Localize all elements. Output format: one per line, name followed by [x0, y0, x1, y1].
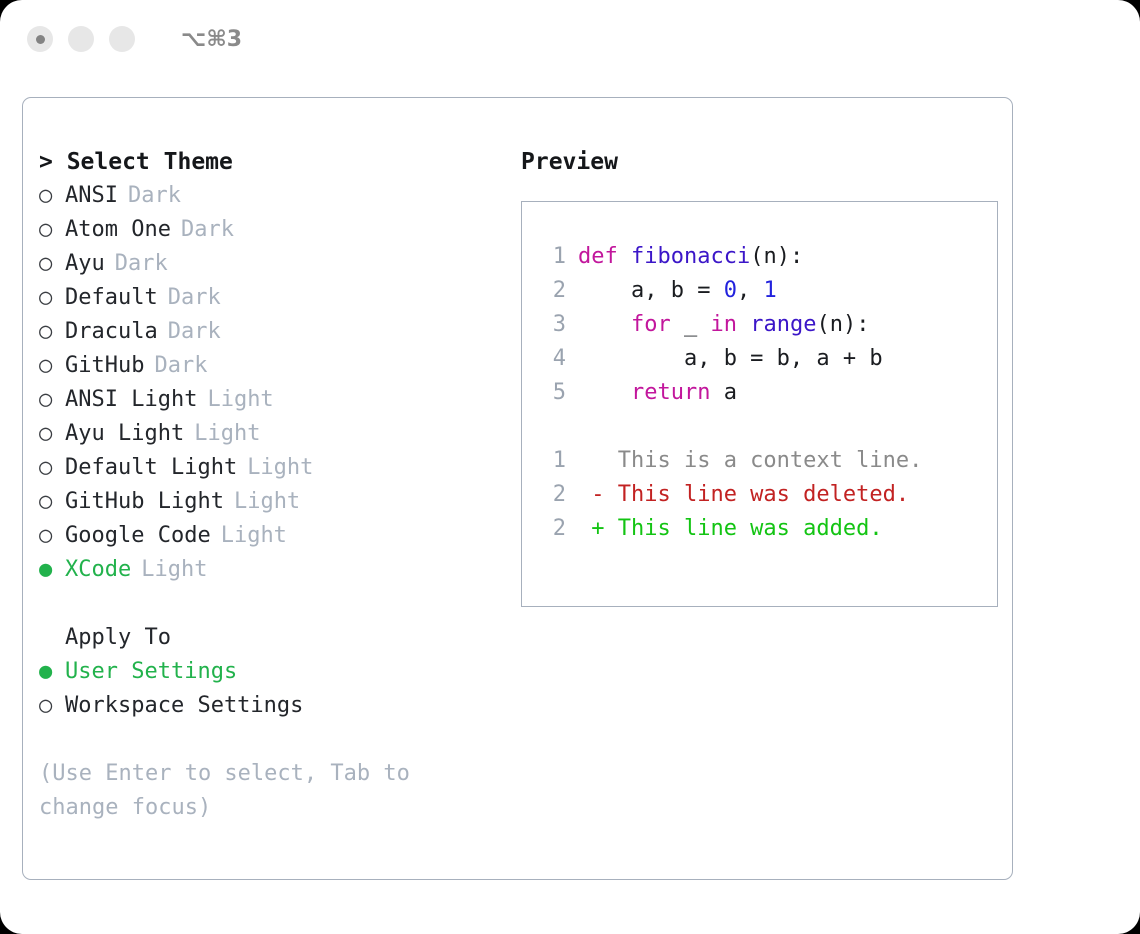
line-number: 1	[540, 240, 566, 274]
apply-to-list: ●User Settings○Workspace Settings	[39, 655, 499, 723]
code-token: a, b =	[578, 278, 724, 303]
keyboard-shortcut-label: ⌥⌘3	[181, 27, 242, 52]
code-token: in	[710, 312, 737, 337]
diff-line: 2 - This line was deleted.	[540, 478, 997, 512]
theme-variant-badge: Dark	[171, 213, 234, 247]
diff-sample: 1 This is a context line.2 - This line w…	[540, 444, 997, 546]
code-token: - This line was deleted.	[578, 482, 909, 507]
line-number: 4	[540, 342, 566, 376]
code-token	[737, 312, 750, 337]
line-number: 1	[540, 444, 566, 478]
preview-box: 1def fibonacci(n):2 a, b = 0, 13 for _ i…	[521, 201, 998, 607]
theme-variant-badge: Light	[224, 485, 300, 519]
radio-unselected-icon[interactable]: ○	[39, 417, 65, 451]
radio-unselected-icon[interactable]: ○	[39, 485, 65, 519]
theme-list-item[interactable]: ○Default LightLight	[39, 451, 499, 485]
line-number: 2	[540, 478, 566, 512]
code-line: 3 for _ in range(n):	[540, 308, 997, 342]
theme-name: Google Code	[65, 519, 211, 553]
code-token: a	[710, 380, 737, 405]
radio-unselected-icon[interactable]: ○	[39, 213, 65, 247]
traffic-light-minimize[interactable]	[68, 26, 94, 52]
radio-unselected-icon[interactable]: ○	[39, 247, 65, 281]
theme-name: GitHub Light	[65, 485, 224, 519]
keyboard-hint: (Use Enter to select, Tab to change focu…	[39, 757, 439, 825]
theme-list-item[interactable]: ●XCodeLight	[39, 553, 499, 587]
select-theme-header: > Select Theme	[39, 145, 499, 179]
theme-name: ANSI Light	[65, 383, 197, 417]
code-token: + This line was added.	[578, 516, 883, 541]
main-panel: > Select Theme ○ANSIDark○Atom OneDark○Ay…	[22, 97, 1013, 880]
theme-variant-badge: Dark	[118, 179, 181, 213]
apply-to-label: User Settings	[65, 655, 237, 689]
theme-variant-badge: Light	[237, 451, 313, 485]
diff-line: 1 This is a context line.	[540, 444, 997, 478]
radio-unselected-icon[interactable]: ○	[39, 179, 65, 213]
code-token: a, b = b, a + b	[578, 346, 883, 371]
code-token: This is a context line.	[578, 448, 922, 473]
radio-unselected-icon[interactable]: ○	[39, 689, 65, 723]
theme-name: Atom One	[65, 213, 171, 247]
code-line: 2 a, b = 0, 1	[540, 274, 997, 308]
code-token: for	[631, 312, 671, 337]
traffic-light-close[interactable]	[27, 26, 53, 52]
radio-unselected-icon[interactable]: ○	[39, 519, 65, 553]
line-number: 5	[540, 376, 566, 410]
panel-columns: > Select Theme ○ANSIDark○Atom OneDark○Ay…	[23, 98, 1012, 879]
theme-list-item[interactable]: ○DraculaDark	[39, 315, 499, 349]
theme-variant-badge: Dark	[105, 247, 168, 281]
theme-list-item[interactable]: ○Ayu LightLight	[39, 417, 499, 451]
preview-title: Preview	[521, 145, 1012, 179]
apply-to-label: Workspace Settings	[65, 689, 303, 723]
code-token: fibonacci	[631, 244, 750, 269]
app-window: ⌥⌘3 > Select Theme ○ANSIDark○Atom OneDar…	[0, 0, 1140, 934]
theme-list-item[interactable]: ○Google CodeLight	[39, 519, 499, 553]
code-token: 1	[763, 278, 776, 303]
apply-to-item[interactable]: ●User Settings	[39, 655, 499, 689]
theme-variant-badge: Dark	[158, 315, 221, 349]
code-token: ,	[737, 278, 764, 303]
code-spacer	[540, 410, 997, 444]
theme-name: Dracula	[65, 315, 158, 349]
radio-unselected-icon[interactable]: ○	[39, 281, 65, 315]
theme-variant-badge: Light	[211, 519, 287, 553]
theme-selection-column: > Select Theme ○ANSIDark○Atom OneDark○Ay…	[39, 145, 499, 879]
theme-name: GitHub	[65, 349, 144, 383]
theme-variant-badge: Light	[184, 417, 260, 451]
code-token: (n):	[816, 312, 869, 337]
code-token: return	[631, 380, 710, 405]
code-line: 1def fibonacci(n):	[540, 240, 997, 274]
theme-list-item[interactable]: ○Atom OneDark	[39, 213, 499, 247]
traffic-light-close-inner	[36, 35, 45, 44]
apply-to-item[interactable]: ○Workspace Settings	[39, 689, 499, 723]
code-token: (n):	[750, 244, 803, 269]
theme-name: Ayu Light	[65, 417, 184, 451]
theme-list-item[interactable]: ○ANSIDark	[39, 179, 499, 213]
code-line: 5 return a	[540, 376, 997, 410]
theme-list-item[interactable]: ○GitHub LightLight	[39, 485, 499, 519]
theme-list-item[interactable]: ○ANSI LightLight	[39, 383, 499, 417]
theme-list-item[interactable]: ○AyuDark	[39, 247, 499, 281]
theme-variant-badge: Light	[197, 383, 273, 417]
radio-selected-icon[interactable]: ●	[39, 553, 65, 587]
preview-column: Preview 1def fibonacci(n):2 a, b = 0, 13…	[499, 145, 1012, 879]
section-spacer	[39, 587, 499, 621]
theme-variant-badge: Light	[131, 553, 207, 587]
radio-unselected-icon[interactable]: ○	[39, 349, 65, 383]
theme-name: ANSI	[65, 179, 118, 213]
radio-unselected-icon[interactable]: ○	[39, 315, 65, 349]
code-token	[578, 380, 631, 405]
theme-list-item[interactable]: ○DefaultDark	[39, 281, 499, 315]
code-token: def	[578, 244, 631, 269]
line-number: 2	[540, 274, 566, 308]
theme-list: ○ANSIDark○Atom OneDark○AyuDark○DefaultDa…	[39, 179, 499, 587]
code-sample: 1def fibonacci(n):2 a, b = 0, 13 for _ i…	[540, 240, 997, 410]
code-line: 4 a, b = b, a + b	[540, 342, 997, 376]
theme-name: Default Light	[65, 451, 237, 485]
theme-name: XCode	[65, 553, 131, 587]
code-token: 0	[724, 278, 737, 303]
radio-unselected-icon[interactable]: ○	[39, 383, 65, 417]
title-bar: ⌥⌘3	[0, 0, 1140, 78]
code-token	[578, 312, 631, 337]
apply-to-header: Apply To	[39, 621, 499, 655]
radio-unselected-icon[interactable]: ○	[39, 451, 65, 485]
diff-line: 2 + This line was added.	[540, 512, 997, 546]
radio-selected-icon[interactable]: ●	[39, 655, 65, 689]
theme-name: Ayu	[65, 247, 105, 281]
theme-variant-badge: Dark	[144, 349, 207, 383]
traffic-light-maximize[interactable]	[109, 26, 135, 52]
line-number: 3	[540, 308, 566, 342]
theme-list-item[interactable]: ○GitHubDark	[39, 349, 499, 383]
theme-name: Default	[65, 281, 158, 315]
code-token: _	[671, 312, 711, 337]
code-token: range	[750, 312, 816, 337]
line-number: 2	[540, 512, 566, 546]
theme-variant-badge: Dark	[158, 281, 221, 315]
